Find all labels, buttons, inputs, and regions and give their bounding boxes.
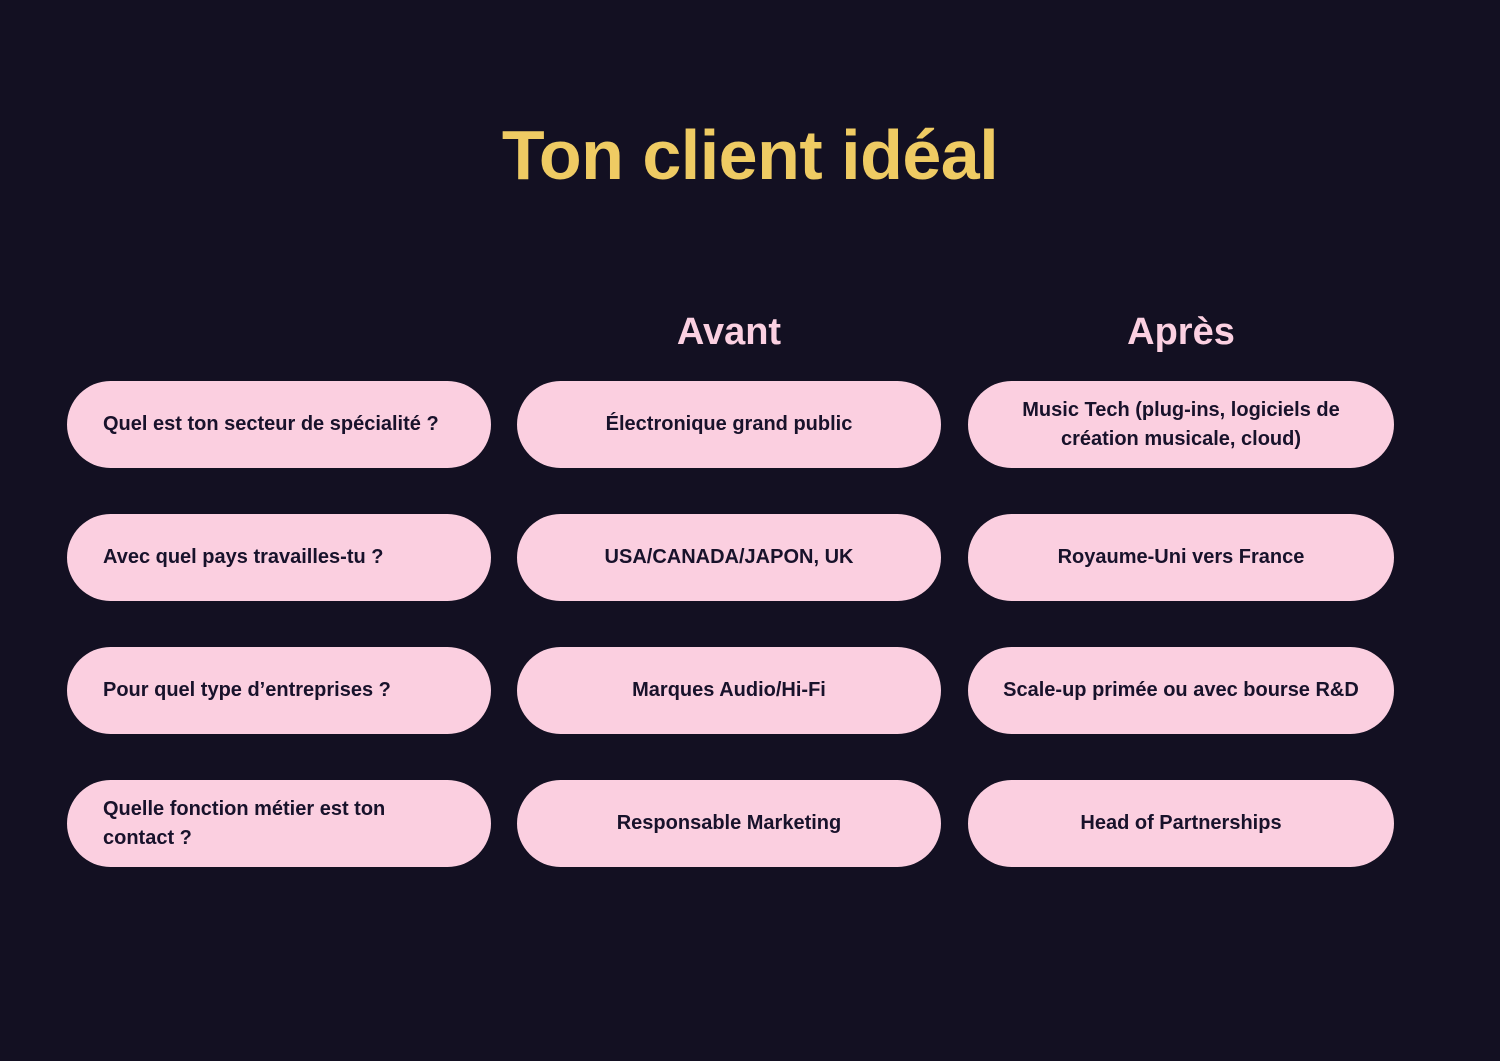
after-pill[interactable]: Royaume-Uni vers France <box>968 514 1394 601</box>
after-pill[interactable]: Music Tech (plug-ins, logiciels de créat… <box>968 381 1394 468</box>
before-pill[interactable]: Marques Audio/Hi-Fi <box>517 647 941 734</box>
table-row: Avec quel pays travailles-tu ? USA/CANAD… <box>0 514 1500 601</box>
question-text: Avec quel pays travailles-tu ? <box>103 543 455 572</box>
table-row: Quel est ton secteur de spécialité ? Éle… <box>0 381 1500 468</box>
question-text: Pour quel type d’entreprises ? <box>103 676 455 705</box>
column-header-apres: Après <box>968 305 1394 359</box>
before-pill[interactable]: Responsable Marketing <box>517 780 941 867</box>
question-text: Quelle fonction métier est ton contact ? <box>103 795 455 853</box>
table-row: Quelle fonction métier est ton contact ?… <box>0 780 1500 867</box>
column-header-row: Avant Après <box>0 305 1500 359</box>
after-text: Head of Partnerships <box>996 809 1366 838</box>
after-text: Royaume-Uni vers France <box>996 543 1366 572</box>
column-header-avant: Avant <box>517 305 941 359</box>
before-pill[interactable]: USA/CANADA/JAPON, UK <box>517 514 941 601</box>
after-pill[interactable]: Head of Partnerships <box>968 780 1394 867</box>
before-text: Marques Audio/Hi-Fi <box>545 676 913 705</box>
before-text: Responsable Marketing <box>545 809 913 838</box>
after-text: Music Tech (plug-ins, logiciels de créat… <box>996 396 1366 454</box>
after-text: Scale-up primée ou avec bourse R&D <box>996 676 1366 705</box>
question-pill[interactable]: Quelle fonction métier est ton contact ? <box>67 780 491 867</box>
before-text: USA/CANADA/JAPON, UK <box>545 543 913 572</box>
question-text: Quel est ton secteur de spécialité ? <box>103 410 455 439</box>
page-title: Ton client idéal <box>0 117 1500 194</box>
slide-canvas: Ton client idéal Avant Après Quel est to… <box>0 0 1500 1061</box>
comparison-grid: Quel est ton secteur de spécialité ? Éle… <box>0 381 1500 913</box>
table-row: Pour quel type d’entreprises ? Marques A… <box>0 647 1500 734</box>
before-pill[interactable]: Électronique grand public <box>517 381 941 468</box>
question-pill[interactable]: Avec quel pays travailles-tu ? <box>67 514 491 601</box>
before-text: Électronique grand public <box>545 410 913 439</box>
after-pill[interactable]: Scale-up primée ou avec bourse R&D <box>968 647 1394 734</box>
question-pill[interactable]: Pour quel type d’entreprises ? <box>67 647 491 734</box>
question-pill[interactable]: Quel est ton secteur de spécialité ? <box>67 381 491 468</box>
